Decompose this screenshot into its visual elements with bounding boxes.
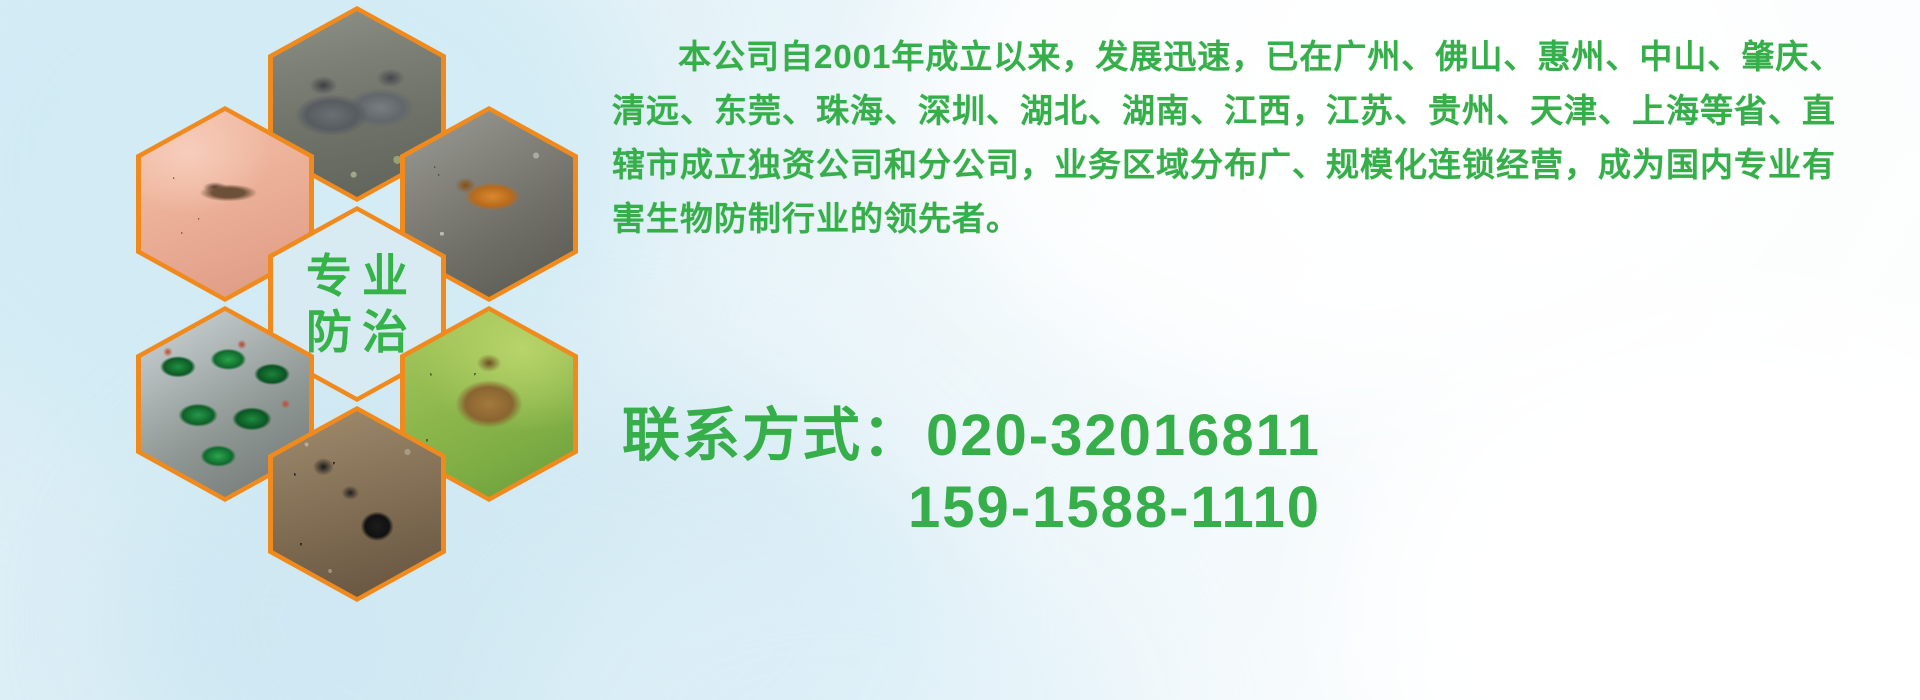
contact-colon: ： bbox=[862, 403, 926, 468]
contact-primary-line: 联系方式：020-32016811 bbox=[622, 400, 1872, 472]
intro-paragraph: 本公司自2001年成立以来，发展迅速，已在广州、佛山、惠州、中山、肇庆、清远、东… bbox=[612, 30, 1862, 246]
phone-primary[interactable]: 020-32016811 bbox=[926, 403, 1321, 468]
slogan-line-1: 专业 bbox=[296, 250, 418, 302]
intro-copy-block: 本公司自2001年成立以来，发展迅速，已在广州、佛山、惠州、中山、肇庆、清远、东… bbox=[612, 30, 1862, 246]
background-blob bbox=[520, 520, 1140, 700]
contact-block: 联系方式：020-32016811 159-1588-1110 bbox=[622, 400, 1872, 544]
contact-label: 联系方式 bbox=[622, 403, 862, 468]
ant-photo bbox=[273, 411, 441, 597]
hexagon-photo-cluster: 专业 防治 bbox=[96, 6, 596, 566]
phone-secondary[interactable]: 159-1588-1110 bbox=[908, 475, 1321, 540]
promo-banner: 专业 防治 本公司自2001年成立以来，发展迅速，已在广州、佛山、惠州、中山、肇… bbox=[0, 0, 1920, 700]
slogan-line-2: 防治 bbox=[296, 306, 418, 358]
contact-secondary-line: 159-1588-1110 bbox=[622, 472, 1872, 544]
